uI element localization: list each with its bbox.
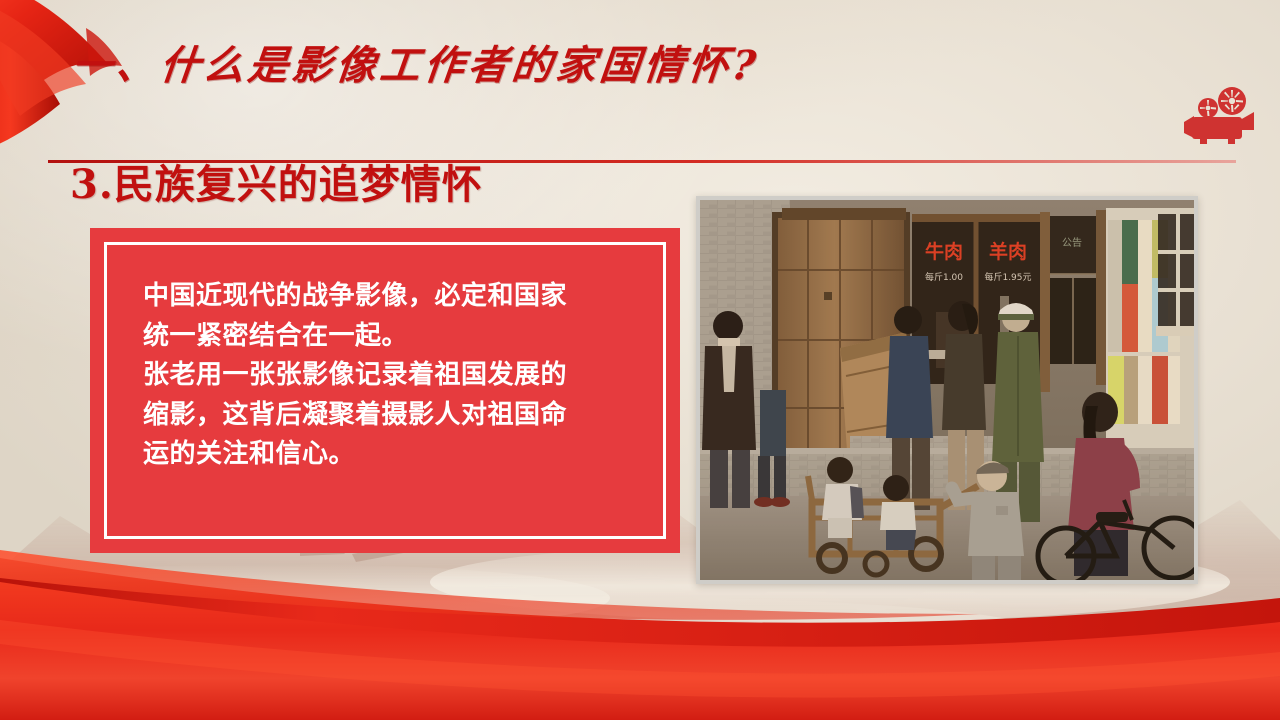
page-title: 一、什么是影像工作者的家国情怀? bbox=[69, 34, 763, 98]
photo-frame: 牛肉 羊肉 每斤1.00 每斤1.95元 公告 bbox=[696, 196, 1198, 584]
callout-card: 中国近现代的战争影像，必定和国家 统一紧密结合在一起。 张老用一张张影像记录着祖… bbox=[90, 228, 680, 553]
callout-body-text: 中国近现代的战争影像，必定和国家 统一紧密结合在一起。 张老用一张张影像记录着祖… bbox=[143, 277, 633, 475]
section-heading: 3.民族复兴的追梦情怀 bbox=[70, 152, 483, 210]
movie-projector-icon bbox=[1184, 86, 1258, 144]
presentation-slide: 一、什么是影像工作者的家国情怀? 3.民族复兴的追梦情怀 中国 bbox=[0, 0, 1280, 720]
historical-street-photo: 牛肉 羊肉 每斤1.00 每斤1.95元 公告 bbox=[700, 200, 1194, 580]
slide-header: 一、什么是影像工作者的家国情怀? bbox=[0, 34, 1280, 98]
callout-inner-border: 中国近现代的战争影像，必定和国家 统一紧密结合在一起。 张老用一张张影像记录着祖… bbox=[104, 242, 666, 539]
